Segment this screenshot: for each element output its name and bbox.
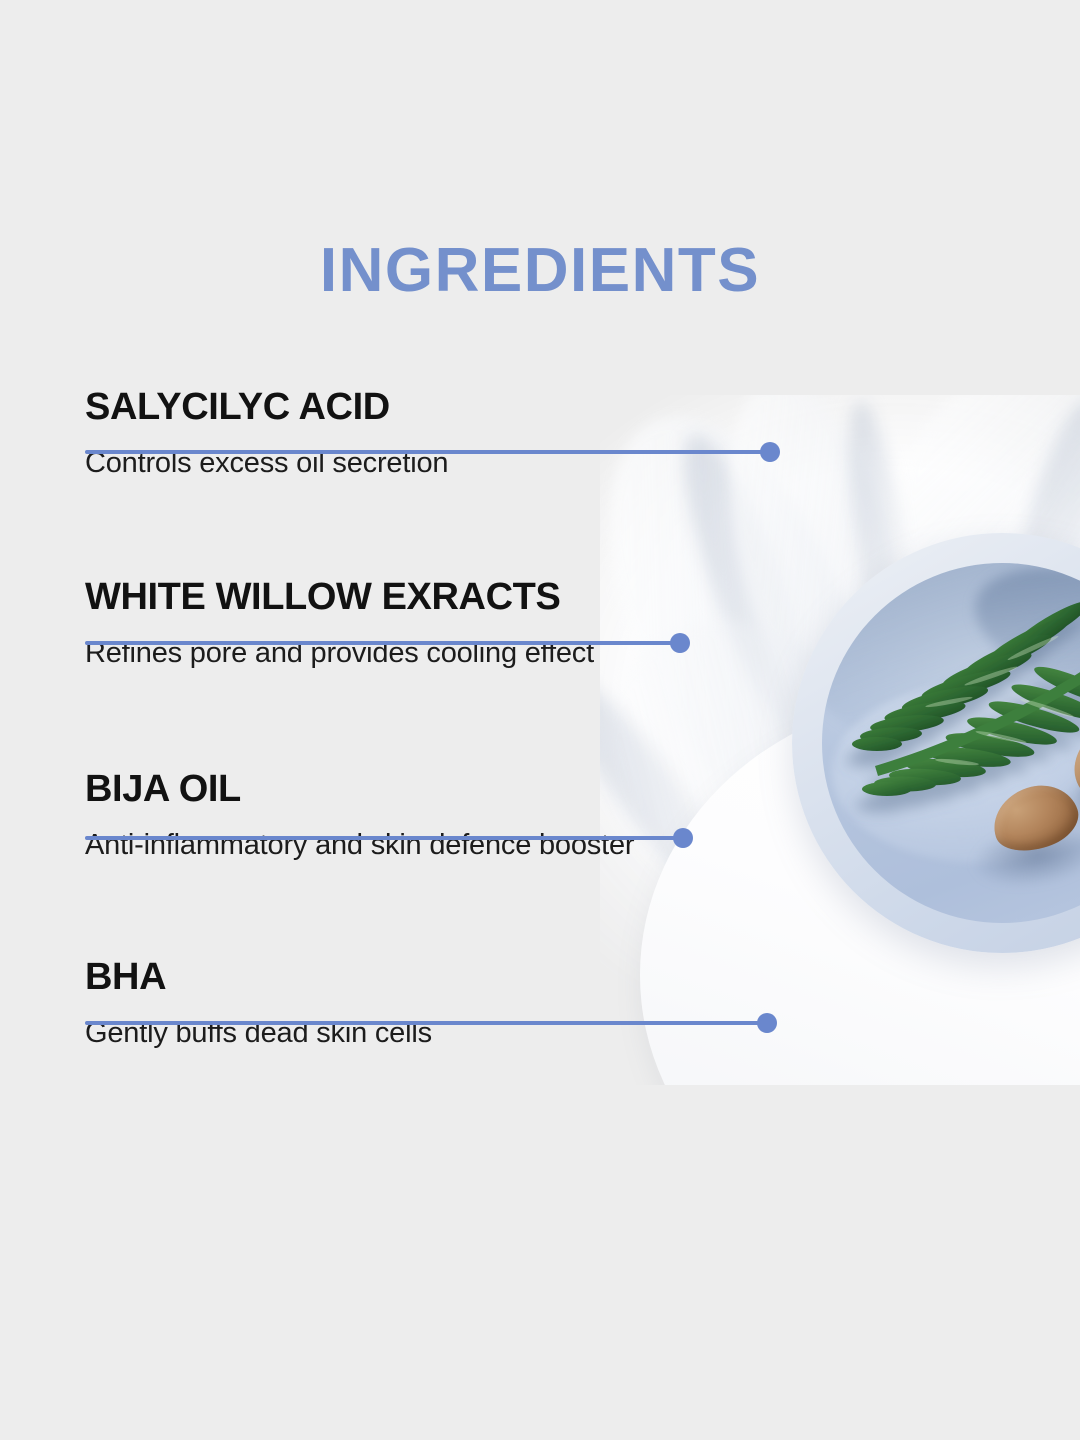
ingredients-page: INGREDIENTS SALYCILYC ACID Controls exce… [0,0,1080,1440]
content-layer: INGREDIENTS SALYCILYC ACID Controls exce… [0,0,1080,1440]
ingredient-description: Refines pore and provides cooling effect [85,639,594,668]
connector-dot [670,633,690,653]
ingredient-description: Controls excess oil secretion [85,449,448,478]
ingredient-description: Gently buffs dead skin cells [85,1019,432,1048]
page-title: INGREDIENTS [0,240,1080,302]
ingredient-item: SALYCILYC ACID Controls excess oil secre… [85,388,448,478]
ingredient-item: WHITE WILLOW EXRACTS Refines pore and pr… [85,578,594,668]
ingredient-item: BIJA OIL Anti-inflammatory and skin defe… [85,770,634,860]
connector-dot [673,828,693,848]
ingredient-name: BIJA OIL [85,770,634,808]
ingredient-name: SALYCILYC ACID [85,388,448,426]
connector-dot [760,442,780,462]
ingredient-description: Anti-inflammatory and skin defence boost… [85,831,634,860]
ingredient-name: BHA [85,958,432,996]
ingredient-name: WHITE WILLOW EXRACTS [85,578,594,616]
connector-dot [757,1013,777,1033]
ingredient-item: BHA Gently buffs dead skin cells [85,958,432,1048]
